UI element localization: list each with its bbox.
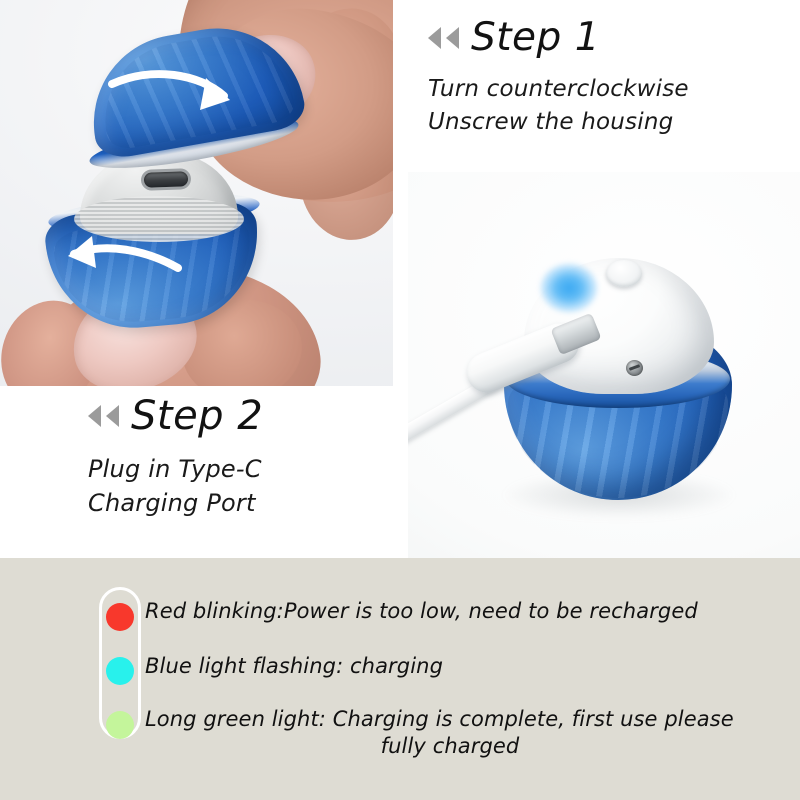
step-1-description: Turn counterclockwise Unscrew the housin… — [428, 73, 788, 138]
led-status-legend-section: Red blinking:Power is too low, need to b… — [0, 558, 800, 800]
housing-screw — [626, 360, 643, 376]
instruction-infographic: Step 1 Turn counterclockwise Unscrew the… — [0, 0, 800, 800]
top-photo-section: Step 1 Turn counterclockwise Unscrew the… — [0, 0, 800, 558]
step-1-title: Step 1 — [471, 18, 600, 57]
double-left-triangle-icon-b — [446, 27, 459, 49]
legend-item-green: Long green light: Charging is complete, … — [145, 706, 755, 761]
power-button — [606, 260, 642, 287]
curved-arrow-right-icon — [112, 74, 230, 110]
blue-led-glow-icon — [541, 264, 597, 312]
legend-item-green-line-1: Long green light: Charging is complete, … — [145, 706, 755, 733]
step-1-line-2: Unscrew the housing — [428, 106, 788, 139]
hands-unscrewing-blue-ball-photo — [0, 0, 393, 386]
legend-item-red: Red blinking:Power is too low, need to b… — [145, 598, 698, 625]
legend-item-green-line-2: fully charged — [145, 733, 755, 760]
step-2-description: Plug in Type-C Charging Port — [88, 452, 418, 520]
green-led-dot-icon — [106, 711, 134, 739]
legend-item-blue: Blue light flashing: charging — [145, 653, 443, 680]
step-1-block: Step 1 Turn counterclockwise Unscrew the… — [428, 18, 788, 138]
double-left-triangle-icon-b — [106, 405, 119, 427]
step-2-title: Step 2 — [131, 396, 263, 436]
double-left-triangle-icon-a — [428, 27, 441, 49]
blue-ball-usb-c-charging-photo — [408, 172, 800, 558]
step-2-heading: Step 2 — [88, 396, 418, 436]
double-left-triangle-icon-a — [88, 405, 101, 427]
rotation-arrows-overlay — [0, 0, 393, 386]
red-led-dot-icon — [106, 603, 134, 631]
step-2-line-2: Charging Port — [88, 486, 418, 520]
step-1-heading: Step 1 — [428, 18, 788, 57]
step-2-line-1: Plug in Type-C — [88, 452, 418, 486]
step-2-block: Step 2 Plug in Type-C Charging Port — [88, 396, 418, 520]
cyan-led-dot-icon — [106, 657, 134, 685]
step-1-line-1: Turn counterclockwise — [428, 73, 788, 106]
curved-arrow-left-icon — [68, 236, 178, 268]
